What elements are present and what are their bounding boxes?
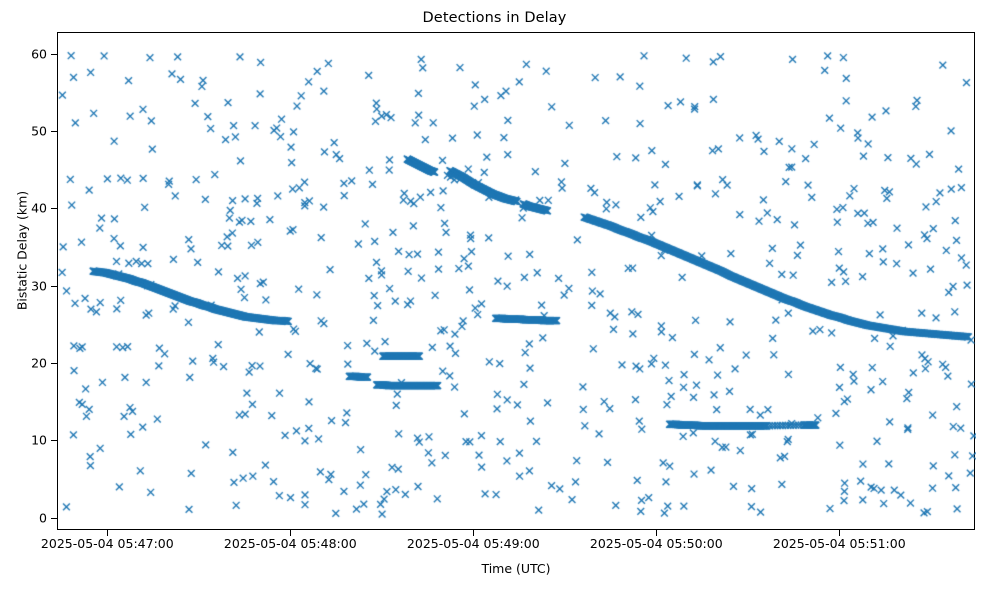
x-tick-mark	[290, 530, 291, 536]
x-tick-label: 2025-05-04 05:47:00	[41, 536, 174, 551]
chart-title: Detections in Delay	[0, 10, 989, 26]
x-tick-label: 2025-05-04 05:51:00	[773, 536, 906, 551]
scatter-plot-area	[58, 33, 976, 531]
x-tick-label: 2025-05-04 05:49:00	[407, 536, 540, 551]
y-tick-label: 40	[31, 201, 47, 216]
y-axis-tick-labels: 0102030405060	[0, 32, 47, 530]
y-tick-label: 20	[31, 355, 47, 370]
x-tick-mark	[839, 530, 840, 536]
y-tick-mark	[51, 208, 57, 209]
y-tick-mark	[51, 440, 57, 441]
figure-canvas: Detections in Delay Bistatic Delay (km) …	[0, 0, 989, 590]
x-axis-label: Time (UTC)	[57, 561, 975, 576]
x-tick-mark	[656, 530, 657, 536]
x-axis-tick-labels: 2025-05-04 05:47:002025-05-04 05:48:0020…	[0, 530, 989, 556]
y-tick-mark	[51, 518, 57, 519]
x-tick-label: 2025-05-04 05:48:00	[224, 536, 357, 551]
x-tick-mark	[473, 530, 474, 536]
x-tick-label: 2025-05-04 05:50:00	[590, 536, 723, 551]
y-tick-mark	[51, 131, 57, 132]
y-tick-mark	[51, 363, 57, 364]
y-tick-label: 10	[31, 433, 47, 448]
y-tick-mark	[51, 54, 57, 55]
y-tick-label: 60	[31, 46, 47, 61]
y-tick-mark	[51, 286, 57, 287]
x-tick-mark	[107, 530, 108, 536]
y-tick-label: 0	[39, 510, 47, 525]
y-tick-label: 30	[31, 278, 47, 293]
y-tick-label: 50	[31, 123, 47, 138]
plot-axes	[57, 32, 975, 530]
